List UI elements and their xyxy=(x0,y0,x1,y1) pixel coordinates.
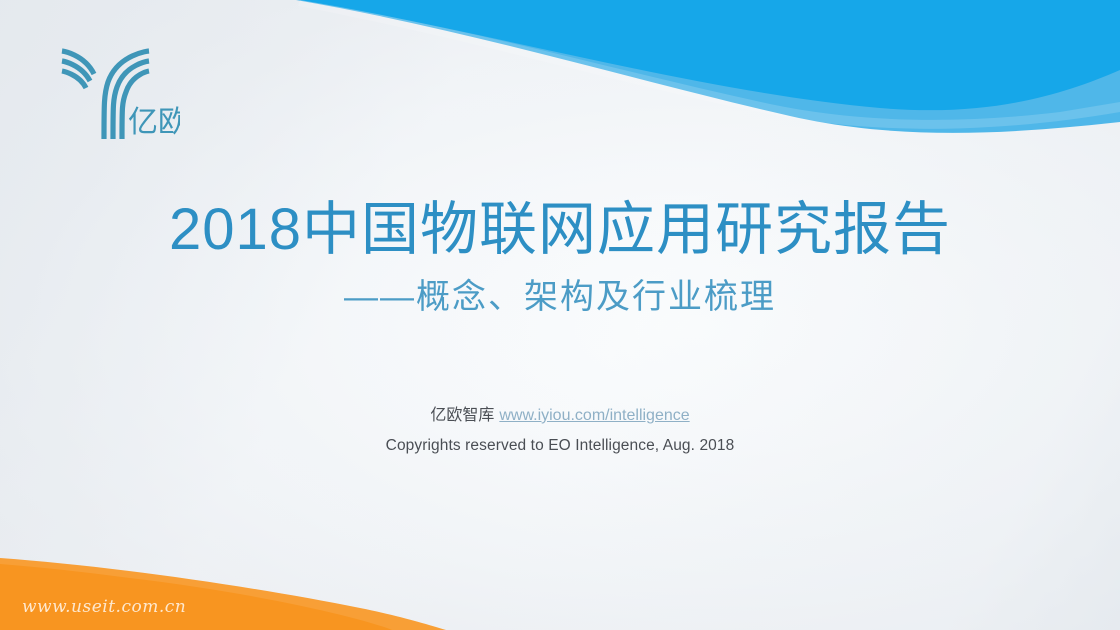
page-subtitle: ——概念、架构及行业梳理 xyxy=(0,277,1120,318)
page-title: 2018中国物联网应用研究报告 xyxy=(0,198,1120,263)
credit-line-org: 亿欧智库www.iyiou.com/intelligence xyxy=(0,405,1120,427)
title-slide: 亿欧 2018中国物联网应用研究报告 ——概念、架构及行业梳理 亿欧智库www.… xyxy=(0,0,1120,630)
title-block: 2018中国物联网应用研究报告 ——概念、架构及行业梳理 xyxy=(0,198,1120,318)
yiou-logo: 亿欧 xyxy=(52,44,180,146)
credit-url-link[interactable]: www.iyiou.com/intelligence xyxy=(499,407,689,424)
credit-org-name: 亿欧智库 xyxy=(430,407,494,424)
credits-block: 亿欧智库www.iyiou.com/intelligence Copyright… xyxy=(0,405,1120,456)
copyright-text: Copyrights reserved to EO Intelligence, … xyxy=(0,436,1120,456)
yiou-wordmark: 亿欧 xyxy=(128,105,180,140)
watermark-text: www.useit.com.cn xyxy=(22,597,186,617)
